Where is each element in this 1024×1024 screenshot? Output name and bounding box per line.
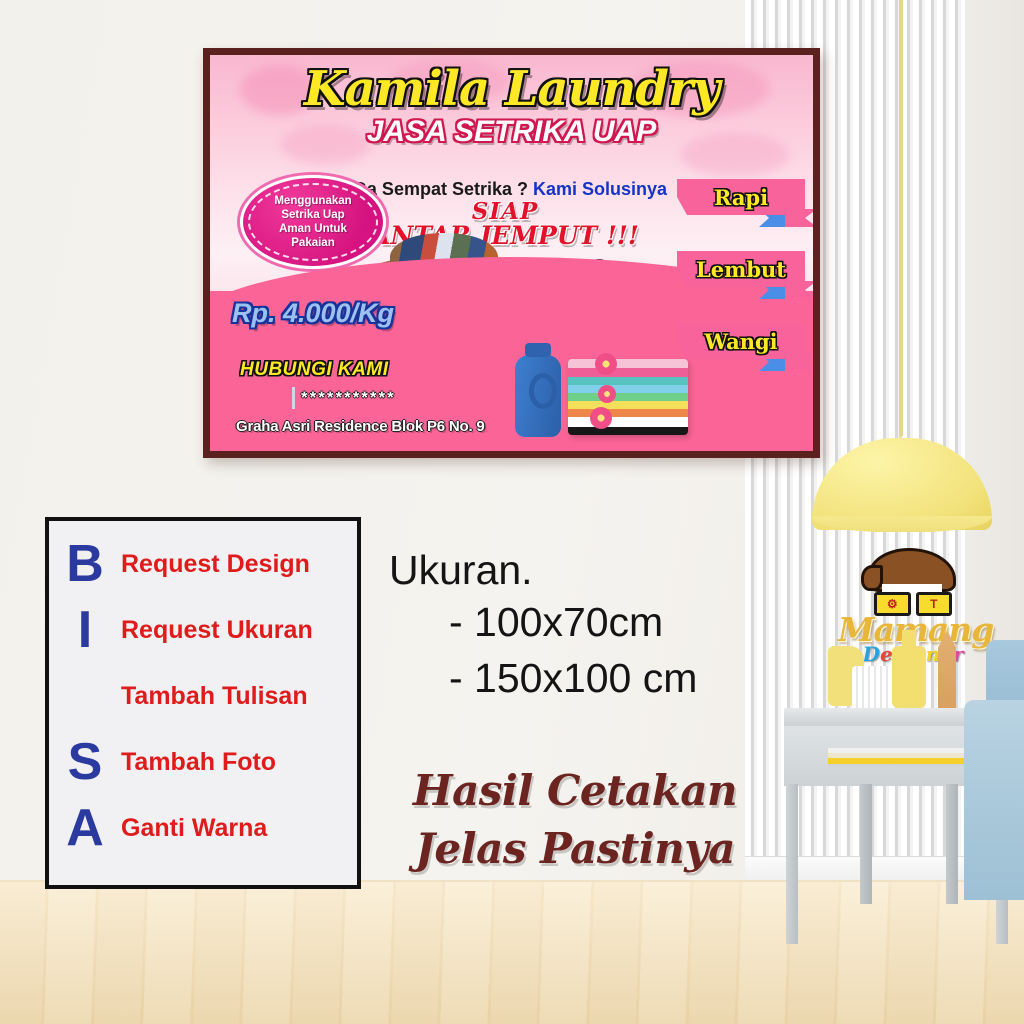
price-label: Rp. 4.000/Kg: [232, 298, 394, 329]
table-leg: [946, 784, 958, 904]
scene: Kamila Laundry JASA SETRIKA UAP Ga Sempa…: [0, 0, 1024, 1024]
table-leg: [860, 784, 872, 904]
bisa-letter: B: [49, 538, 121, 590]
ribbon-label: Rapi: [714, 185, 768, 210]
business-name: Kamila Laundry: [210, 63, 813, 115]
bisa-letter: I: [49, 604, 121, 656]
size-option: - 100x70cm: [389, 594, 697, 650]
table-leg: [786, 784, 798, 944]
yellow-bottle-vase: [892, 646, 926, 708]
bisa-row: Tambah Tulisan: [49, 663, 357, 729]
bisa-item-label: Request Ukuran: [121, 616, 313, 645]
folded-towels-image: [568, 359, 688, 435]
banner-canvas: Kamila Laundry JASA SETRIKA UAP Ga Sempa…: [210, 55, 813, 451]
bisa-letter: S: [49, 736, 121, 788]
bisa-item-label: Ganti Warna: [121, 814, 267, 843]
flower-icon: [590, 407, 612, 429]
address-line: Graha Asri Residence Blok P6 No. 9: [236, 418, 485, 435]
size-option: - 150x100 cm: [389, 650, 697, 706]
print-quality-line-2: Jelas Pastinya: [405, 820, 745, 878]
size-heading: Ukuran.: [389, 546, 697, 594]
bisa-row: S Tambah Foto: [49, 729, 357, 795]
bisa-letter: A: [49, 802, 121, 854]
armchair: [964, 700, 1024, 900]
tagline-answer: Kami Solusinya: [533, 179, 667, 199]
feature-ribbon-rapi: Rapi: [677, 179, 813, 221]
contact-heading: HUBUNGI KAMI: [240, 359, 389, 381]
bisa-item-label: Tambah Tulisan: [121, 682, 308, 711]
bottle-cap: [525, 343, 551, 357]
badge-line-2: Setrika Uap: [281, 208, 344, 222]
steam-iron-badge: Menggunakan Setrika Uap Aman Untuk Pakai…: [240, 175, 386, 269]
books-on-shelf: [828, 748, 978, 766]
white-vase: [852, 666, 890, 710]
bisa-item-label: Tambah Foto: [121, 748, 276, 777]
logo-subtitle-letter: D: [863, 642, 880, 666]
feature-ribbon-lembut: Lembut: [677, 251, 813, 293]
badge-line-3: Aman Untuk: [279, 222, 347, 236]
size-options-block: Ukuran. - 100x70cm - 150x100 cm: [389, 546, 697, 706]
bisa-row: A Ganti Warna: [49, 795, 357, 861]
cta-line-1: SIAP: [340, 201, 670, 223]
ribbon-body: Lembut: [677, 251, 805, 287]
bisa-row: I Request Ukuran: [49, 597, 357, 663]
logo-subtitle-letter: e: [880, 642, 893, 666]
tagline-question: Ga Sempat Setrika ?: [353, 179, 528, 199]
banner-title-block: Kamila Laundry JASA SETRIKA UAP: [210, 63, 813, 148]
bottle-handle: [529, 373, 557, 409]
ribbon-body: Wangi: [677, 323, 805, 359]
ribbon-body: Rapi: [677, 179, 805, 215]
phone-divider: [292, 387, 295, 409]
detergent-bottle-image: [515, 355, 561, 437]
badge-line-4: Pakaian: [291, 236, 334, 250]
lamp-rod: [899, 0, 903, 436]
service-name: JASA SETRIKA UAP: [210, 116, 813, 148]
bisa-row: B Request Design: [49, 531, 357, 597]
badge-inner-ring: Menggunakan Setrika Uap Aman Untuk Pakai…: [248, 183, 378, 261]
print-quality-text: Hasil Cetakan Jelas Pastinya: [405, 762, 745, 878]
feature-ribbon-wangi: Wangi: [677, 323, 813, 365]
tagline: Ga Sempat Setrika ? Kami Solusinya: [330, 179, 690, 200]
ribbon-label: Lembut: [696, 257, 786, 282]
ribbon-label: Wangi: [704, 329, 777, 354]
print-quality-line-1: Hasil Cetakan: [405, 762, 745, 820]
laundry-banner[interactable]: Kamila Laundry JASA SETRIKA UAP Ga Sempa…: [203, 48, 820, 458]
flower-icon: [595, 353, 617, 375]
flower-icon: [598, 385, 616, 403]
badge-line-1: Menggunakan: [274, 194, 351, 208]
bisa-item-label: Request Design: [121, 550, 310, 579]
bisa-features-panel: B Request Design I Request Ukuran Tambah…: [45, 517, 361, 889]
phone-row: ***********: [292, 387, 396, 409]
phone-number: ***********: [301, 388, 396, 408]
logo-subtitle-letter: n: [926, 642, 941, 666]
